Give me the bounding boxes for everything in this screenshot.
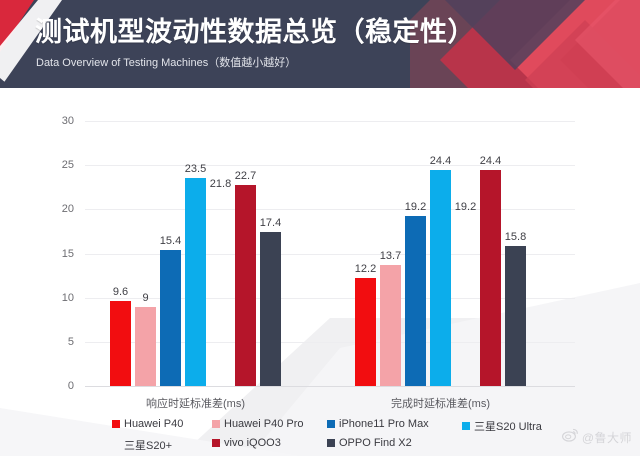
plot-area: 0510152025309.6915.423.521.822.717.4响应时延… (85, 121, 575, 386)
legend-label: vivo iQOO3 (224, 437, 281, 449)
gridline-0: 0 (85, 386, 575, 387)
gridline-30: 30 (85, 121, 575, 122)
bar: 17.4 (260, 232, 281, 386)
bar: 9.6 (110, 301, 131, 386)
watermark: @鲁大师 (562, 428, 632, 447)
legend-label: iPhone11 Pro Max (339, 418, 429, 430)
bar-value-label: 12.2 (355, 263, 376, 275)
bar: 12.2 (355, 278, 376, 386)
legend-item[interactable]: OPPO Find X2 (327, 437, 412, 449)
y-axis-tick-0: 0 (68, 380, 74, 392)
bar: 21.8 (210, 193, 231, 386)
legend-row-bottom: 三星S20+vivo iQOO3OPPO Find X2 (0, 437, 640, 454)
bar: 13.7 (380, 265, 401, 386)
page-subtitle-en: Data Overview of Testing Machines（数值越小越好… (36, 57, 296, 69)
y-axis-tick-15: 15 (62, 248, 74, 260)
legend-swatch (112, 441, 120, 449)
bar-value-label: 9 (142, 292, 148, 304)
y-axis-tick-20: 20 (62, 203, 74, 215)
legend-label: OPPO Find X2 (339, 437, 412, 449)
legend-label: 三星S20 Ultra (474, 418, 542, 434)
x-axis-category-label: 完成时延标准差(ms) (391, 395, 490, 411)
legend-item[interactable]: Huawei P40 Pro (212, 418, 304, 430)
gridline-5: 5 (85, 342, 575, 343)
chart-canvas: 0510152025309.6915.423.521.822.717.4响应时延… (0, 88, 640, 456)
legend-item[interactable]: vivo iQOO3 (212, 437, 281, 449)
y-axis-tick-25: 25 (62, 159, 74, 171)
watermark-label: @鲁大师 (582, 429, 632, 446)
y-axis-tick-5: 5 (68, 336, 74, 348)
page-header: 测试机型波动性数据总览（稳定性） Data Overview of Testin… (0, 0, 640, 88)
weibo-icon (562, 428, 579, 447)
gridline-10: 10 (85, 298, 575, 299)
y-axis-tick-30: 30 (62, 115, 74, 127)
bar-value-label: 21.8 (210, 178, 231, 190)
bar: 23.5 (185, 178, 206, 386)
bar-value-label: 9.6 (113, 286, 128, 298)
legend-swatch (327, 420, 335, 428)
bar: 24.4 (430, 170, 451, 386)
legend-row-top: Huawei P40Huawei P40 ProiPhone11 Pro Max… (0, 418, 640, 435)
bar-value-label: 24.4 (430, 155, 451, 167)
legend-item[interactable]: iPhone11 Pro Max (327, 418, 429, 430)
bar: 24.4 (480, 170, 501, 386)
bar-value-label: 17.4 (260, 217, 281, 229)
bar-value-label: 22.7 (235, 170, 256, 182)
page-subtitle: Data Overview of Testing Machines（数值越小越好… (36, 54, 296, 70)
legend-swatch (327, 439, 335, 447)
bar-value-label: 15.8 (505, 231, 526, 243)
legend-swatch (212, 439, 220, 447)
page-title: 测试机型波动性数据总览（稳定性） (35, 10, 475, 49)
bar: 19.2 (405, 216, 426, 386)
bar-value-label: 13.7 (380, 250, 401, 262)
gridline-25: 25 (85, 165, 575, 166)
legend-swatch (112, 420, 120, 428)
legend-label: 三星S20+ (124, 437, 172, 453)
bar: 22.7 (235, 185, 256, 386)
y-axis-tick-10: 10 (62, 292, 74, 304)
bar-value-label: 19.2 (405, 201, 426, 213)
gridline-15: 15 (85, 254, 575, 255)
legend-label: Huawei P40 (124, 418, 183, 430)
legend-swatch (212, 420, 220, 428)
x-axis-category-label: 响应时延标准差(ms) (146, 395, 245, 411)
legend-label: Huawei P40 Pro (224, 418, 304, 430)
legend-swatch (462, 422, 470, 430)
bar-value-label: 15.4 (160, 235, 181, 247)
chart-legend: Huawei P40Huawei P40 ProiPhone11 Pro Max… (0, 415, 640, 456)
legend-item[interactable]: Huawei P40 (112, 418, 183, 430)
legend-item[interactable]: 三星S20+ (112, 437, 172, 453)
bar: 15.4 (160, 250, 181, 386)
bar-value-label: 23.5 (185, 163, 206, 175)
bar: 9 (135, 307, 156, 387)
gridline-20: 20 (85, 209, 575, 210)
bar: 15.8 (505, 246, 526, 386)
legend-item[interactable]: 三星S20 Ultra (462, 418, 542, 434)
bar: 19.2 (455, 216, 476, 386)
bar-value-label: 19.2 (455, 201, 476, 213)
bar-value-label: 24.4 (480, 155, 501, 167)
